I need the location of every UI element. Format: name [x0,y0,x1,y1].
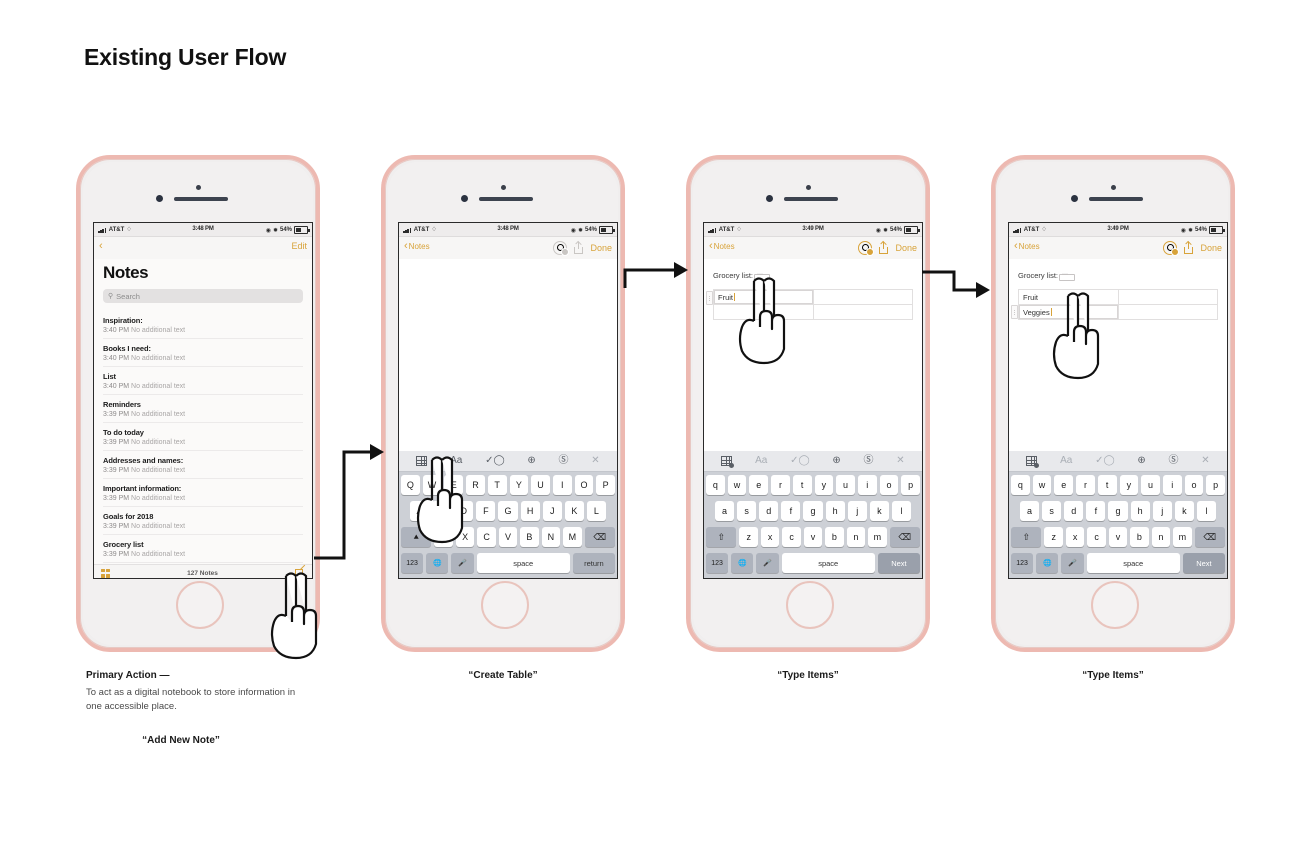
key-o[interactable]: O [575,475,594,495]
notes-list: Inspiration:3:40 PM No additional textBo… [94,311,312,563]
chevron-left-icon: ‹ [404,241,408,252]
text-format-icon[interactable]: Aa [1060,456,1072,466]
note-item-preview: No additional text [129,327,185,334]
chevron-left-icon: ‹ [1014,241,1018,252]
row-handle-icon[interactable] [1011,305,1018,319]
numbers-key[interactable]: 123 [1011,553,1033,573]
key-p[interactable]: p [1206,475,1225,495]
phone-4-body: AT&T ♢ 3:49 PM ◉ ✹ 54% ‹ Notes [998,162,1228,645]
phone-1-body: AT&T ♢ 3:48 PM ◉ ✹ 54% ‹ [83,162,313,645]
note-list-item[interactable]: Reminders3:39 PM No additional text [103,395,303,423]
phone-3-keyboard: Aa ✓◯ ⊕ Ⓢ ✕ qwertyuiop asdfghjkl ⇧ zxcvb… [704,451,922,578]
keyboard-row-4: 123 🌐 🎤 space Next [1009,550,1227,578]
key-s[interactable]: s [1042,501,1061,521]
phone-3-screen: AT&T ♢ 3:49 PM ◉ ✹ 54% ‹ Notes [703,222,923,579]
note-item-title: To do today [103,428,303,437]
note-item-title: List [103,372,303,381]
note-item-title: Goals for 2018 [103,512,303,521]
keyboard-row-2: ASDFGHJKL [399,498,617,524]
key-q[interactable]: q [1011,475,1030,495]
back-button[interactable]: ‹ [99,241,103,252]
attach-icon[interactable]: ⊕ [832,456,840,466]
table-handle-icon[interactable] [754,274,770,281]
search-input[interactable]: ⚲ Search [103,289,303,303]
key-a[interactable]: A [410,501,429,521]
markup-icon[interactable]: Ⓢ [1169,456,1179,466]
battery-percent-label: 54% [890,227,902,233]
key-c[interactable]: c [782,527,800,547]
key-j[interactable]: j [1153,501,1172,521]
backspace-key[interactable]: ⌫ [890,527,920,547]
close-icon[interactable]: ✕ [1201,456,1209,466]
note-table[interactable]: FruitVeggies [1018,289,1218,320]
keyboard-row-2: asdfghjkl [1009,498,1227,524]
phone-4-keyboard: Aa ✓◯ ⊕ Ⓢ ✕ qwertyuiop asdfghjkl ⇧ zxcvb… [1009,451,1227,578]
keyboard-row-4: 123 🌐 🎤 space Next [704,550,922,578]
key-v[interactable]: V [499,527,517,547]
done-button[interactable]: Done [895,243,917,253]
table-cell[interactable]: Fruit [714,290,814,305]
phone-4-nav-bar: ‹ Notes Done [1009,237,1227,259]
edit-button[interactable]: Edit [291,241,307,251]
earpiece-speaker [479,197,533,201]
note-item-title: Addresses and names: [103,456,303,465]
note-item-time: 3:39 PM [103,467,129,474]
key-m[interactable]: m [868,527,886,547]
key-c[interactable]: c [1087,527,1105,547]
status-bar: AT&T ♢ 3:48 PM ◉ ✹ 54% [399,223,617,237]
note-list-item[interactable]: Grocery list3:39 PM No additional text [103,535,303,563]
key-f[interactable]: f [1086,501,1105,521]
alarm-icon: ◉ [876,227,881,234]
key-h[interactable]: H [521,501,540,521]
notes-bottom-toolbar: 127 Notes [94,564,312,579]
key-l[interactable]: l [892,501,911,521]
keyboard-format-toolbar: Aa ✓◯ ⊕ Ⓢ ✕ [1009,451,1227,472]
phone-2-body: AT&T ♢ 3:48 PM ◉ ✹ 54% ‹ Notes [388,162,618,645]
key-c[interactable]: C [477,527,495,547]
table-icon[interactable] [1026,456,1037,466]
key-x[interactable]: X [456,527,474,547]
note-item-preview: No additional text [129,467,185,474]
note-item-time: 3:39 PM [103,439,129,446]
key-w[interactable]: W [423,475,442,495]
chevron-left-icon: ‹ [709,241,713,252]
key-r[interactable]: r [1076,475,1095,495]
key-t[interactable]: T [488,475,507,495]
note-list-item[interactable]: Important information:3:39 PM No additio… [103,479,303,507]
note-item-subtitle: 3:40 PM No additional text [103,355,303,362]
alarm-icon: ◉ [571,227,576,234]
note-title-text: Grocery list: [713,271,753,280]
note-editor-with-table[interactable]: Grocery list: Fruit [704,259,922,433]
note-item-subtitle: 3:39 PM No additional text [103,411,303,418]
close-icon[interactable]: ✕ [896,456,904,466]
key-u[interactable]: u [1141,475,1160,495]
status-bar: AT&T ♢ 3:48 PM ◉ ✹ 54% [94,223,312,237]
note-item-preview: No additional text [129,551,185,558]
phone-2-screen: AT&T ♢ 3:48 PM ◉ ✹ 54% ‹ Notes [398,222,618,579]
add-people-icon[interactable] [1163,241,1177,255]
status-bar: AT&T ♢ 3:49 PM ◉ ✹ 54% [1009,223,1227,237]
notes-count-label: 127 Notes [187,570,218,577]
add-people-icon[interactable] [553,241,567,255]
status-bar: AT&T ♢ 3:49 PM ◉ ✹ 54% [704,223,922,237]
battery-percent-label: 54% [1195,227,1207,233]
globe-icon[interactable]: 🌐 [1036,553,1058,573]
table-icon[interactable] [416,456,427,466]
note-item-time: 3:39 PM [103,495,129,502]
table-row[interactable]: Fruit [714,290,913,305]
note-item-preview: No additional text [129,523,185,530]
front-camera-icon [1111,185,1116,190]
key-n[interactable]: n [1152,527,1170,547]
phone-1-nav-bar: ‹ Edit [94,237,312,259]
key-b[interactable]: b [1130,527,1148,547]
sensor-icon [766,195,773,202]
done-button[interactable]: Done [590,243,612,253]
key-n[interactable]: N [542,527,560,547]
keyboard-row-1: QWERTYUIOP [399,472,617,498]
add-people-icon[interactable] [858,241,872,255]
keyboard-row-4: 123 🌐 🎤 space return [399,550,617,578]
battery-percent-label: 54% [585,227,597,233]
key-v[interactable]: v [1109,527,1127,547]
note-editor-with-table[interactable]: Grocery list: FruitVeggies [1009,259,1227,433]
battery-percent-label: 54% [280,227,292,233]
key-f[interactable]: f [781,501,800,521]
step-4-caption: “Type Items” [991,670,1235,681]
phone-mockup-3: AT&T ♢ 3:49 PM ◉ ✹ 54% ‹ Notes [686,155,930,652]
key-z[interactable]: z [1044,527,1062,547]
table-cell[interactable] [1118,305,1218,320]
table-icon[interactable] [721,456,732,466]
backspace-key[interactable]: ⌫ [585,527,615,547]
earpiece-speaker [784,197,838,201]
shift-key[interactable]: ⯅ [401,527,431,547]
sensor-icon [156,195,163,202]
front-camera-icon [501,185,506,190]
backspace-key[interactable]: ⌫ [1195,527,1225,547]
chevron-left-icon: ‹ [99,241,103,252]
note-item-preview: No additional text [129,439,185,446]
next-key[interactable]: Next [878,553,920,573]
key-w[interactable]: w [728,475,747,495]
note-item-title: Important information: [103,484,303,493]
numbers-key[interactable]: 123 [401,553,423,573]
compose-note-icon[interactable] [295,568,305,578]
key-g[interactable]: g [803,501,822,521]
note-item-time: 3:39 PM [103,411,129,418]
space-key[interactable]: space [782,553,875,573]
text-cursor [734,293,735,301]
note-item-preview: No additional text [129,495,185,502]
shift-key[interactable]: ⇧ [1011,527,1041,547]
phone-1-screen: AT&T ♢ 3:48 PM ◉ ✹ 54% ‹ [93,222,313,579]
step-1-caption: “Add New Note” [86,735,276,746]
share-icon[interactable] [879,242,888,254]
key-v[interactable]: v [804,527,822,547]
note-editor-empty[interactable] [399,259,617,433]
key-b[interactable]: b [825,527,843,547]
table-row[interactable]: Veggies [1019,305,1218,320]
share-icon[interactable] [574,242,583,254]
key-e[interactable]: E [444,475,463,495]
note-item-time: 3:39 PM [103,523,129,530]
key-f[interactable]: F [476,501,495,521]
grid-view-icon[interactable] [101,569,110,578]
note-item-time: 3:40 PM [103,327,129,334]
note-item-preview: No additional text [129,383,185,390]
key-t[interactable]: t [1098,475,1117,495]
key-k[interactable]: k [870,501,889,521]
key-e[interactable]: e [1054,475,1073,495]
note-item-preview: No additional text [129,411,185,418]
key-s[interactable]: S [432,501,451,521]
page-title: Existing User Flow [84,44,286,71]
note-item-title: Books I need: [103,344,303,353]
key-y[interactable]: y [1120,475,1139,495]
globe-icon[interactable]: 🌐 [731,553,753,573]
earpiece-speaker [1089,197,1143,201]
key-g[interactable]: g [1108,501,1127,521]
note-item-title: Reminders [103,400,303,409]
keyboard-row-3: ⇧ zxcvbnm ⌫ [1009,524,1227,550]
step-3-caption: “Type Items” [686,670,930,681]
note-item-subtitle: 3:40 PM No additional text [103,383,303,390]
note-list-item[interactable]: To do today3:39 PM No additional text [103,423,303,451]
key-w[interactable]: w [1033,475,1052,495]
keyboard-format-toolbar: Aa ✓◯ ⊕ Ⓢ ✕ [399,451,617,472]
battery-icon [904,226,918,234]
note-item-subtitle: 3:39 PM No additional text [103,551,303,558]
phone-mockup-2: AT&T ♢ 3:48 PM ◉ ✹ 54% ‹ Notes [381,155,625,652]
keyboard-row-1: qwertyuiop [704,472,922,498]
sensor-icon [461,195,468,202]
keyboard-row-3: ⯅ ZXCVBNM ⌫ [399,524,617,550]
earpiece-speaker [174,197,228,201]
checklist-icon[interactable]: ✓◯ [1095,456,1115,466]
key-r[interactable]: r [771,475,790,495]
search-icon: ⚲ [108,292,113,300]
notes-list-screen: Notes ⚲ Search Inspiration:3:40 PM No ad… [94,259,312,579]
microphone-icon[interactable]: 🎤 [1061,553,1083,573]
note-list-item[interactable]: Addresses and names:3:39 PM No additiona… [103,451,303,479]
key-e[interactable]: e [749,475,768,495]
keyboard-row-3: ⇧ zxcvbnm ⌫ [704,524,922,550]
key-u[interactable]: u [836,475,855,495]
attach-icon[interactable]: ⊕ [527,456,535,466]
text-cursor [1051,308,1052,316]
phone-4-screen: AT&T ♢ 3:49 PM ◉ ✹ 54% ‹ Notes [1008,222,1228,579]
checklist-icon[interactable]: ✓◯ [485,456,505,466]
note-item-time: 3:40 PM [103,355,129,362]
key-p[interactable]: P [596,475,615,495]
microphone-icon[interactable]: 🎤 [451,553,473,573]
microphone-icon[interactable]: 🎤 [756,553,778,573]
phone-2-keyboard: Aa ✓◯ ⊕ Ⓢ ✕ QWERTYUIOP ASDFGHJKL ⯅ ZXCVB… [399,451,617,578]
key-z[interactable]: z [739,527,757,547]
key-d[interactable]: d [759,501,778,521]
return-key[interactable]: return [573,553,615,573]
note-item-time: 3:40 PM [103,383,129,390]
back-to-notes-button[interactable]: ‹ Notes [404,241,430,252]
key-k[interactable]: K [565,501,584,521]
key-q[interactable]: q [706,475,725,495]
key-h[interactable]: h [826,501,845,521]
keyboard-format-toolbar: Aa ✓◯ ⊕ Ⓢ ✕ [704,451,922,472]
bluetooth-icon: ✹ [883,227,888,234]
key-g[interactable]: G [498,501,517,521]
step-2-caption: “Create Table” [381,670,625,681]
keyboard-row-2: asdfghjkl [704,498,922,524]
markup-icon[interactable]: Ⓢ [559,456,569,466]
key-d[interactable]: d [1064,501,1083,521]
phone-2-nav-bar: ‹ Notes Done [399,237,617,259]
shift-key[interactable]: ⇧ [706,527,736,547]
key-m[interactable]: M [563,527,581,547]
key-j[interactable]: J [543,501,562,521]
key-t[interactable]: t [793,475,812,495]
key-i[interactable]: i [858,475,877,495]
table-row[interactable]: Fruit [1019,290,1218,305]
checklist-icon[interactable]: ✓◯ [790,456,810,466]
key-s[interactable]: s [737,501,756,521]
phone-mockup-1: AT&T ♢ 3:48 PM ◉ ✹ 54% ‹ [76,155,320,652]
key-y[interactable]: Y [510,475,529,495]
key-m[interactable]: m [1173,527,1191,547]
key-z[interactable]: Z [434,527,452,547]
page-heading: Notes [94,259,312,287]
back-to-notes-button[interactable]: ‹ Notes [709,241,735,252]
table-cell[interactable] [813,305,913,320]
note-item-subtitle: 3:40 PM No additional text [103,327,303,334]
key-a[interactable]: a [715,501,734,521]
back-to-notes-button[interactable]: ‹ Notes [1014,241,1040,252]
key-r[interactable]: R [466,475,485,495]
key-x[interactable]: x [761,527,779,547]
table-row[interactable] [714,305,913,320]
share-icon[interactable] [1184,242,1193,254]
table-cell[interactable] [813,290,913,305]
key-u[interactable]: U [531,475,550,495]
space-key[interactable]: space [1087,553,1180,573]
key-d[interactable]: D [454,501,473,521]
flow-arrow-3 [920,262,996,304]
table-cell[interactable] [714,305,814,320]
markup-icon[interactable]: Ⓢ [864,456,874,466]
note-list-item[interactable]: Books I need:3:40 PM No additional text [103,339,303,367]
back-label: Notes [1019,242,1040,251]
note-list-item[interactable]: Goals for 20183:39 PM No additional text [103,507,303,535]
table-cell[interactable]: Veggies [1019,305,1119,320]
home-button[interactable] [176,581,224,629]
note-list-item[interactable]: Inspiration:3:40 PM No additional text [103,311,303,339]
numbers-key[interactable]: 123 [706,553,728,573]
note-item-title: Inspiration: [103,316,303,325]
primary-action-body: To act as a digital notebook to store in… [86,686,296,714]
table-cell[interactable] [1118,290,1218,305]
next-key[interactable]: Next [1183,553,1225,573]
key-o[interactable]: o [880,475,899,495]
row-handle-icon[interactable] [706,291,713,305]
note-item-subtitle: 3:39 PM No additional text [103,467,303,474]
front-camera-icon [196,185,201,190]
key-o[interactable]: o [1185,475,1204,495]
key-l[interactable]: l [1197,501,1216,521]
key-h[interactable]: h [1131,501,1150,521]
front-camera-icon [806,185,811,190]
key-l[interactable]: L [587,501,606,521]
globe-icon[interactable]: 🌐 [426,553,448,573]
key-y[interactable]: y [815,475,834,495]
space-key[interactable]: space [477,553,570,573]
bluetooth-icon: ✹ [273,227,278,234]
primary-action-heading: Primary Action — [86,670,170,681]
alarm-icon: ◉ [266,227,271,234]
key-i[interactable]: i [1163,475,1182,495]
key-j[interactable]: j [848,501,867,521]
flow-arrow-1 [314,440,390,570]
note-item-preview: No additional text [129,355,185,362]
note-item-subtitle: 3:39 PM No additional text [103,523,303,530]
key-x[interactable]: x [1066,527,1084,547]
attach-icon[interactable]: ⊕ [1137,456,1145,466]
battery-icon [1209,226,1223,234]
done-button[interactable]: Done [1200,243,1222,253]
back-label: Notes [714,242,735,251]
keyboard-row-1: qwertyuiop [1009,472,1227,498]
battery-icon [294,226,308,234]
key-i[interactable]: I [553,475,572,495]
phone-3-body: AT&T ♢ 3:49 PM ◉ ✹ 54% ‹ Notes [693,162,923,645]
battery-icon [599,226,613,234]
key-b[interactable]: B [520,527,538,547]
bluetooth-icon: ✹ [1188,227,1193,234]
flow-arrow-2 [620,258,696,294]
key-a[interactable]: a [1020,501,1039,521]
note-item-subtitle: 3:39 PM No additional text [103,439,303,446]
search-placeholder: Search [116,292,140,301]
bluetooth-icon: ✹ [578,227,583,234]
phone-mockup-4: AT&T ♢ 3:49 PM ◉ ✹ 54% ‹ Notes [991,155,1235,652]
table-handle-icon[interactable] [1059,274,1075,281]
key-p[interactable]: p [901,475,920,495]
text-format-icon[interactable]: Aa [450,456,462,466]
note-item-time: 3:39 PM [103,551,129,558]
flow-diagram-canvas: Existing User Flow AT&T ♢ 3:48 PM ◉ ✹ [0,0,1305,844]
key-q[interactable]: Q [401,475,420,495]
close-icon[interactable]: ✕ [591,456,599,466]
key-k[interactable]: k [1175,501,1194,521]
phone-3-nav-bar: ‹ Notes Done [704,237,922,259]
home-button[interactable] [1091,581,1139,629]
table-cell[interactable]: Fruit [1019,290,1119,305]
note-list-item[interactable]: List3:40 PM No additional text [103,367,303,395]
note-item-title: Grocery list [103,540,303,549]
note-table[interactable]: Fruit [713,289,913,320]
note-item-subtitle: 3:39 PM No additional text [103,495,303,502]
home-button[interactable] [481,581,529,629]
note-title-text: Grocery list: [1018,271,1058,280]
home-button[interactable] [786,581,834,629]
text-format-icon[interactable]: Aa [755,456,767,466]
key-n[interactable]: n [847,527,865,547]
sensor-icon [1071,195,1078,202]
alarm-icon: ◉ [1181,227,1186,234]
back-label: Notes [409,242,430,251]
